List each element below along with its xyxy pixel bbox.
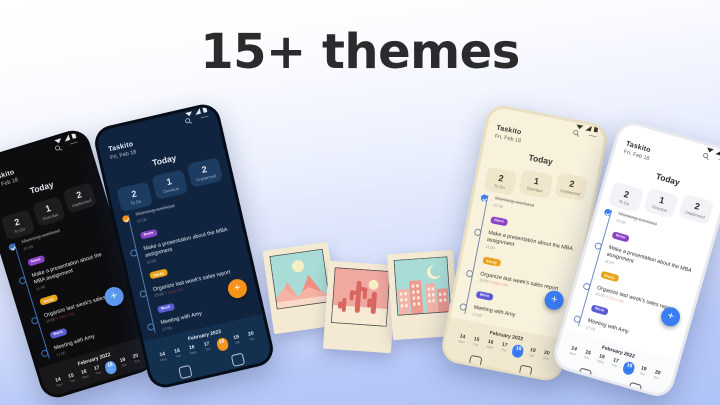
task-check-icon[interactable]: [146, 323, 154, 331]
home-icon[interactable]: [212, 377, 218, 383]
note-icon: [119, 375, 134, 390]
recents-icon[interactable]: [252, 368, 258, 374]
day-cell[interactable]: 20Sun: [650, 369, 664, 385]
shortcut-braindump[interactable]: Brain Dump: [109, 372, 147, 398]
note-icon: [519, 365, 533, 379]
shortcut-organize[interactable]: Organize: [456, 353, 493, 377]
task-tag-chip[interactable]: Study: [482, 257, 501, 267]
task-check-icon[interactable]: [572, 315, 581, 324]
back-icon[interactable]: [565, 382, 571, 388]
recents-icon[interactable]: [140, 389, 146, 395]
promo-graphic: 15+ themes — Taskito Fri, Feb 18 Today: [0, 0, 720, 405]
polaroid-cactus: [323, 261, 397, 354]
task-tag-chip[interactable]: Work: [591, 304, 609, 315]
task-list: Morning workout 07:00 None Make a presen…: [113, 183, 262, 342]
day-cell[interactable]: 17Thu: [91, 364, 105, 380]
day-cell[interactable]: 15Tue: [65, 372, 79, 388]
page-title: 15+ themes: [0, 24, 720, 80]
day-cell[interactable]: 16Wed: [186, 344, 200, 359]
home-icon[interactable]: [603, 393, 609, 396]
task-check-icon[interactable]: [582, 282, 591, 291]
day-cell-selected[interactable]: 18Fri: [622, 361, 636, 377]
home-icon[interactable]: [495, 378, 501, 380]
task-tag-chip[interactable]: None: [140, 228, 158, 239]
shortcut-organize[interactable]: Organize: [565, 365, 603, 392]
day-cell[interactable]: 20Sun: [245, 330, 259, 345]
calendar-icon: [178, 365, 192, 379]
day-cell[interactable]: 16Wed: [594, 353, 608, 369]
back-icon[interactable]: [456, 371, 462, 377]
calendar-icon: [577, 368, 592, 383]
task-check-icon[interactable]: [129, 249, 137, 257]
day-cell[interactable]: 16Wed: [483, 339, 496, 354]
shortcut-braindump[interactable]: Brain Dump: [220, 350, 257, 375]
task-time: 15:00: [154, 292, 164, 298]
day-cell[interactable]: 20Sun: [539, 349, 552, 364]
task-tag-chip[interactable]: None: [490, 216, 508, 226]
mountain-sunrise-illustration: [269, 249, 330, 310]
stat-card-unplanned[interactable]: 2 Unplanned: [554, 172, 588, 202]
task-tag-chip[interactable]: None: [27, 255, 45, 267]
day-cell[interactable]: 14Mon: [566, 345, 580, 361]
day-cell[interactable]: 17Thu: [497, 341, 510, 356]
task-check-icon[interactable]: [121, 215, 129, 223]
task-check-icon[interactable]: [30, 316, 39, 325]
city-night-illustration: [393, 256, 451, 316]
day-cell[interactable]: 16Wed: [78, 368, 92, 384]
task-tag-chip[interactable]: Work: [476, 291, 494, 301]
day-cell[interactable]: 19Sat: [636, 365, 650, 381]
shortcut-braindump[interactable]: Brain Dump: [615, 379, 653, 396]
task-check-icon[interactable]: [40, 350, 49, 359]
day-cell[interactable]: 17Thu: [608, 357, 622, 373]
task-tag-chip[interactable]: Work: [157, 303, 175, 314]
shortcut-braindump[interactable]: Brain Dump: [507, 363, 544, 380]
day-cell-selected[interactable]: 18Fri: [215, 337, 229, 352]
day-cell-selected[interactable]: 18Fri: [104, 360, 118, 376]
note-icon: [627, 382, 642, 396]
day-cell-selected[interactable]: 18Fri: [511, 344, 524, 359]
day-cell[interactable]: 17Thu: [201, 340, 215, 355]
back-icon[interactable]: [172, 386, 178, 387]
calendar-icon: [72, 389, 87, 398]
task-tag-chip[interactable]: None: [612, 231, 630, 242]
day-cell[interactable]: 15Tue: [469, 336, 482, 351]
task-check-icon[interactable]: [8, 243, 17, 252]
task-tag-chip[interactable]: Study: [149, 269, 168, 280]
day-cell[interactable]: 15Tue: [580, 349, 594, 365]
task-check-icon[interactable]: [593, 242, 602, 251]
task-tag-chip[interactable]: Study: [39, 294, 58, 306]
day-cell[interactable]: 14Mon: [455, 333, 468, 348]
task-check-icon[interactable]: [603, 208, 612, 217]
task-check-icon[interactable]: [18, 277, 27, 286]
task-tag-chip[interactable]: Study: [600, 271, 619, 283]
calendar-icon: [468, 355, 482, 369]
task-time: 15:00: [479, 278, 489, 284]
note-icon: [231, 353, 245, 367]
day-cell[interactable]: 20Sun: [130, 352, 144, 368]
day-cell[interactable]: 14Mon: [156, 351, 170, 366]
day-cell[interactable]: 14Mon: [52, 376, 66, 392]
day-cell[interactable]: 19Sat: [230, 334, 244, 349]
day-cell[interactable]: 15Tue: [171, 347, 185, 362]
task-tag-chip[interactable]: Work: [49, 328, 67, 340]
shortcut-organize[interactable]: Organize: [167, 362, 204, 387]
more-horizontal-icon[interactable]: —: [588, 131, 597, 140]
task-check-icon[interactable]: [473, 228, 481, 236]
task-check-icon[interactable]: [138, 290, 146, 298]
task-check-icon[interactable]: [458, 303, 466, 311]
desert-cactus-illustration: [331, 267, 391, 327]
task-check-icon[interactable]: [465, 269, 473, 277]
day-cell[interactable]: 19Sat: [117, 356, 131, 372]
task-check-icon[interactable]: [480, 194, 488, 202]
day-cell[interactable]: 19Sat: [525, 347, 538, 362]
